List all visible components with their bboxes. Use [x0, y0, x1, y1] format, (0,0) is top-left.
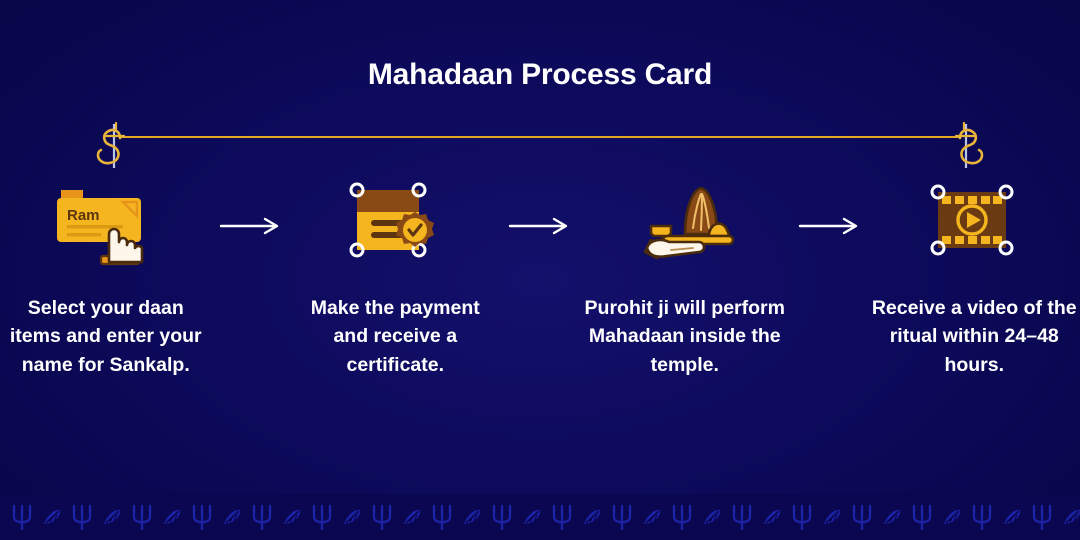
step-caption: Make the payment and receive a certifica… [291, 294, 499, 379]
om-swirl-ornament-mirrored-icon [948, 118, 1000, 174]
page-title: Mahadaan Process Card [0, 58, 1080, 92]
form-card-with-cursor-icon: Ram [47, 178, 165, 274]
divider [80, 118, 1000, 174]
mahadaan-process-card: Mahadaan Process Card [0, 0, 1080, 540]
process-step-3: Purohit ji will perform Mahadaan inside … [579, 178, 791, 379]
hand-holding-offering-thali-icon [627, 178, 743, 274]
certificate-with-seal-icon [343, 178, 447, 274]
form-card-name-text: Ram [67, 207, 100, 224]
bottom-trishul-border [0, 494, 1080, 540]
process-steps: Ram Select your daan items and enter you… [0, 178, 1080, 418]
process-step-2: Make the payment and receive a certifica… [290, 178, 502, 379]
step-caption: Select your daan items and enter your na… [2, 294, 210, 379]
step-caption: Purohit ji will perform Mahadaan inside … [581, 294, 789, 379]
process-step-1: Ram Select your daan items and enter you… [0, 178, 212, 379]
video-play-frame-icon [924, 178, 1024, 274]
om-swirl-ornament-icon [80, 118, 132, 174]
step-caption: Receive a video of the ritual within 24–… [870, 294, 1078, 379]
arrow-right-icon [212, 178, 290, 274]
arrow-right-icon [501, 178, 579, 274]
arrow-right-icon [791, 178, 869, 274]
process-step-4: Receive a video of the ritual within 24–… [869, 178, 1080, 379]
divider-line [120, 136, 960, 138]
